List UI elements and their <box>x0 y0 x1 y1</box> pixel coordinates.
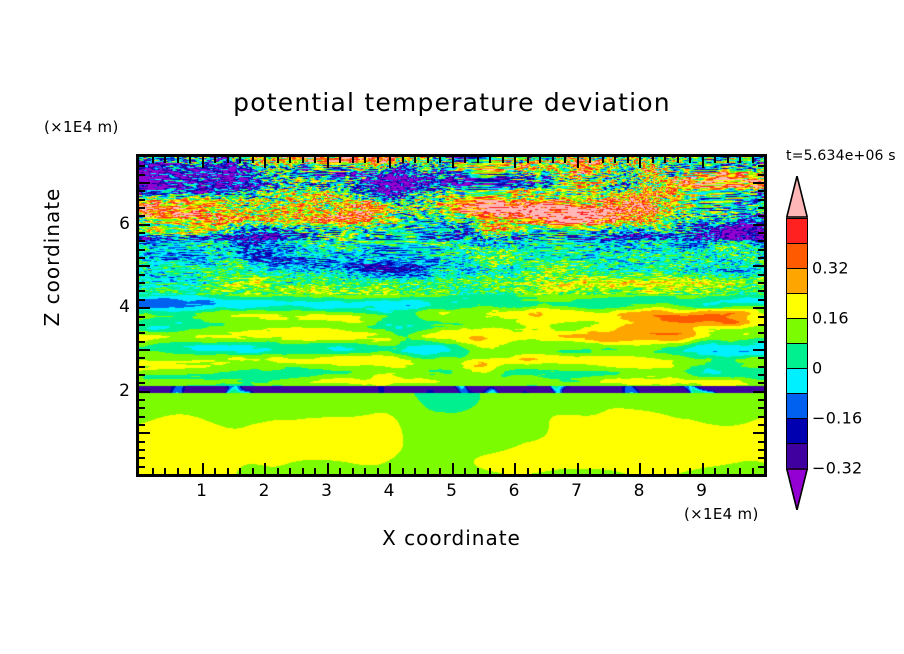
colorbar-band <box>786 243 808 270</box>
colorbar-tick-label: 0.32 <box>812 259 849 278</box>
y-axis-title: Z coordinate <box>40 147 64 367</box>
colorbar-band <box>786 418 808 445</box>
colorbar-band <box>786 318 808 345</box>
colorbar-band <box>786 293 808 320</box>
page-title: potential temperature deviation <box>0 88 904 117</box>
contour-plot-field <box>136 154 767 477</box>
x-tick-label: 6 <box>509 481 520 501</box>
y-axis-unit-label: (×1E4 m) <box>44 118 119 136</box>
x-tick-label: 1 <box>196 481 207 501</box>
x-tick-label: 9 <box>696 481 707 501</box>
colorbar-cap-outline <box>786 176 808 218</box>
colorbar-tick-labels: 0.320.160−0.16−0.32 <box>812 218 892 468</box>
colorbar-tick-label: 0.16 <box>812 309 849 328</box>
x-tick-label: 3 <box>321 481 332 501</box>
colorbar-cap-outline <box>786 468 808 510</box>
y-tick-label: 4 <box>119 297 130 317</box>
colorbar-tick-label: 0 <box>812 359 822 378</box>
y-tick-label: 6 <box>119 214 130 234</box>
x-axis-title: X coordinate <box>136 526 767 550</box>
x-tick-label: 2 <box>259 481 270 501</box>
heatmap-canvas <box>139 157 764 474</box>
colorbar-tick-label: −0.16 <box>812 409 863 428</box>
y-tick-label: 2 <box>119 381 130 401</box>
x-tick-label: 8 <box>634 481 645 501</box>
x-tick-label: 7 <box>571 481 582 501</box>
colorbar-band <box>786 443 808 470</box>
colorbar-band <box>786 268 808 295</box>
colorbar-band <box>786 343 808 370</box>
colorbar-band <box>786 393 808 420</box>
colorbar-tick-label: −0.32 <box>812 459 863 478</box>
y-axis-tick-labels: 246 <box>96 154 130 477</box>
x-axis-unit-label: (×1E4 m) <box>684 505 759 523</box>
x-axis-tick-labels: 123456789 <box>136 481 767 505</box>
colorbar <box>786 218 808 468</box>
x-tick-label: 5 <box>446 481 457 501</box>
timestamp-annotation: t=5.634e+06 s <box>786 148 896 164</box>
colorbar-band <box>786 218 808 245</box>
colorbar-band <box>786 368 808 395</box>
x-tick-label: 4 <box>384 481 395 501</box>
